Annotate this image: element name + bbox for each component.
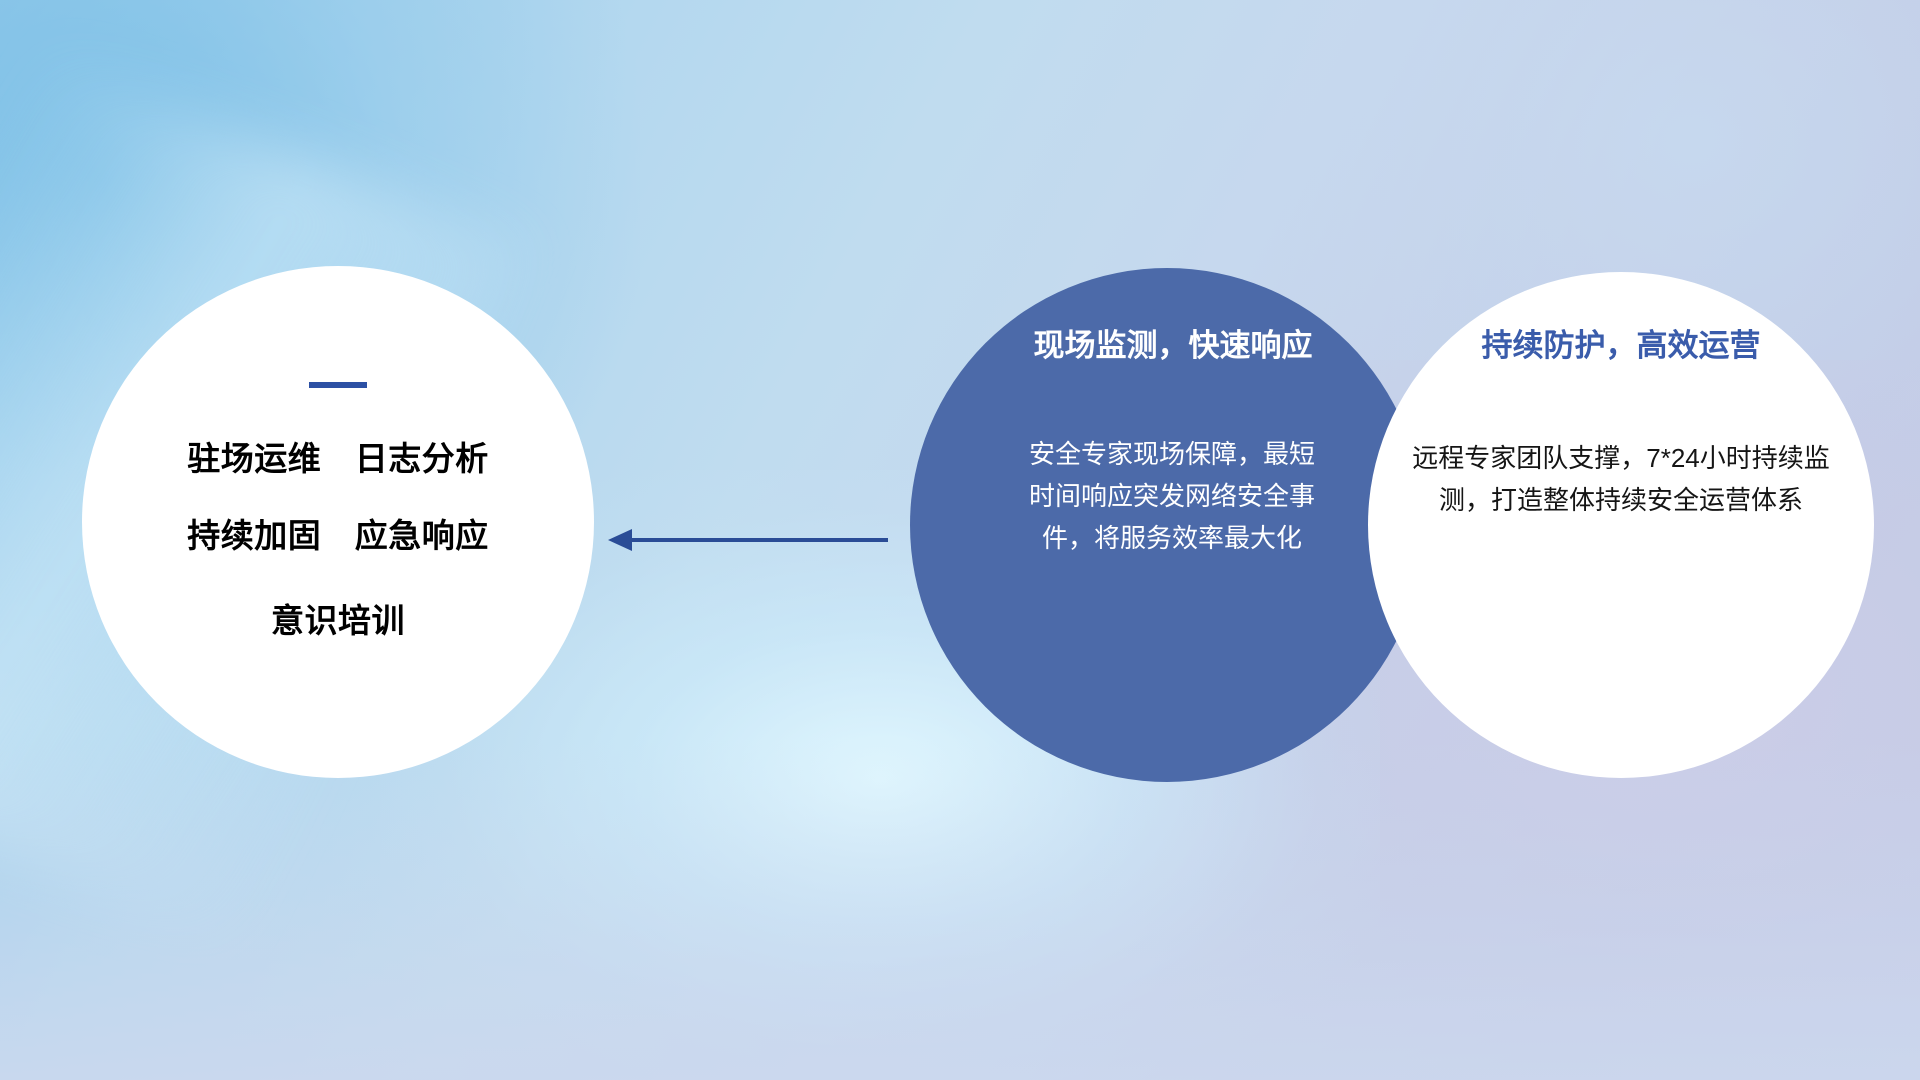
arrow-left-icon <box>600 518 890 562</box>
accent-divider-dash <box>309 382 367 388</box>
middle-circle-body: 安全专家现场保障，最短时间响应突发网络安全事件，将服务效率最大化 <box>1022 433 1322 559</box>
right-circle-content: 持续防护，高效运营 远程专家团队支撑，7*24小时持续监测，打造整体持续安全运营… <box>1368 272 1874 778</box>
background-bottom-wash <box>0 740 1920 1080</box>
left-circle-content: 驻场运维 日志分析 持续加固 应急响应 意识培训 <box>82 266 594 778</box>
right-circle-title: 持续防护，高效运营 <box>1482 330 1761 361</box>
service-keyword-row-1: 驻场运维 日志分析 <box>187 442 489 475</box>
service-keyword-row-3: 意识培训 <box>271 604 405 637</box>
slide-canvas: 驻场运维 日志分析 持续加固 应急响应 意识培训 现场监测，快速响应 安全专家现… <box>0 0 1920 1080</box>
service-keyword-list: 驻场运维 日志分析 持续加固 应急响应 意识培训 <box>187 442 489 637</box>
right-circle-body: 远程专家团队支撑，7*24小时持续监测，打造整体持续安全运营体系 <box>1412 437 1830 521</box>
service-keyword-row-2: 持续加固 应急响应 <box>187 519 489 552</box>
middle-circle-content: 现场监测，快速响应 安全专家现场保障，最短时间响应突发网络安全事件，将服务效率最… <box>910 268 1424 782</box>
connector-arrow <box>600 518 890 562</box>
middle-circle-title: 现场监测，快速响应 <box>1034 330 1313 361</box>
